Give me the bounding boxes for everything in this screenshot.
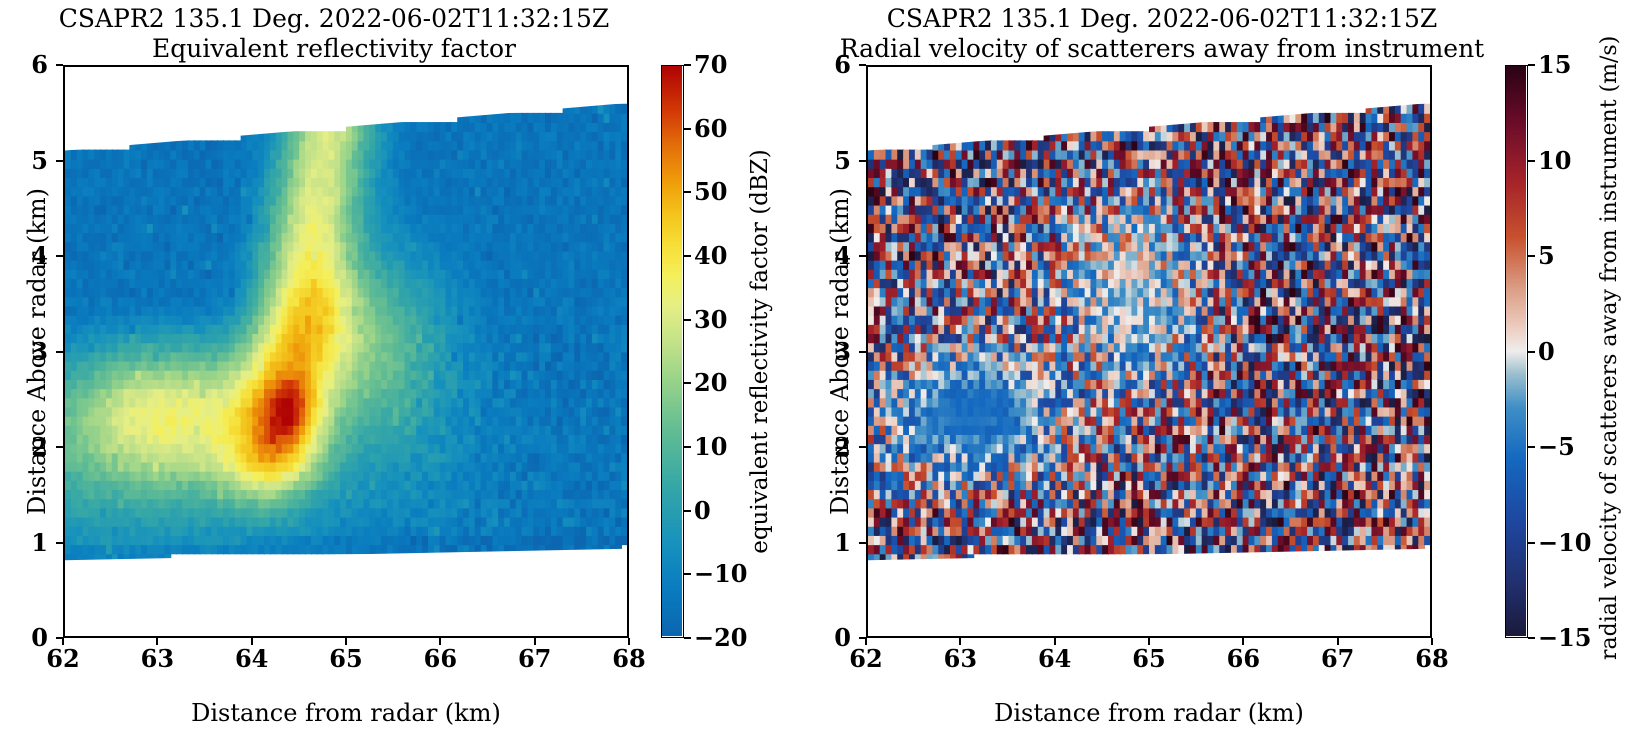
reflectivity-xtick-label: 62 [23,647,103,671]
velocity-colorbar-tick [1528,637,1535,639]
reflectivity-colorbar-tick [684,255,691,257]
reflectivity-ytick [56,351,63,353]
reflectivity-xtick-label: 66 [400,647,480,671]
reflectivity-colorbar-tick [684,637,691,639]
reflectivity-xtick-label: 67 [495,647,575,671]
reflectivity-title-line1: CSAPR2 135.1 Deg. 2022-06-02T11:32:15Z [0,4,668,34]
reflectivity-xtick-label: 63 [117,647,197,671]
velocity-xtick-label: 67 [1298,647,1378,671]
reflectivity-colorbar[interactable] [661,65,684,638]
velocity-xtick-label: 65 [1109,647,1189,671]
velocity-colorbar-tick-label: 15 [1538,53,1571,77]
reflectivity-ytick [56,160,63,162]
reflectivity-heatmap-canvas [65,67,627,636]
velocity-colorbar-tick-label: −10 [1538,531,1592,555]
reflectivity-colorbar-tick-label: 0 [694,499,711,523]
reflectivity-colorbar-tick [684,191,691,193]
reflectivity-title-line2: Equivalent reflectivity factor [0,34,668,64]
velocity-colorbar-gradient [1506,66,1526,636]
reflectivity-colorbar-tick [684,510,691,512]
velocity-colorbar-label: radial velocity of scatterers away from … [1597,40,1622,660]
reflectivity-ytick [56,255,63,257]
reflectivity-colorbar-tick-label: −20 [694,626,748,650]
reflectivity-colorbar-tick [684,64,691,66]
velocity-colorbar[interactable] [1505,65,1528,638]
reflectivity-ytick [56,542,63,544]
velocity-colorbar-tick-label: −15 [1538,626,1592,650]
velocity-heatmap-canvas [868,67,1430,636]
radar-figure: CSAPR2 135.1 Deg. 2022-06-02T11:32:15Z E… [0,0,1634,752]
reflectivity-colorbar-tick-label: 70 [694,53,727,77]
velocity-xtick-label: 68 [1392,647,1472,671]
reflectivity-xtick-label: 65 [306,647,386,671]
reflectivity-colorbar-tick-label: 50 [694,180,727,204]
reflectivity-colorbar-tick [684,319,691,321]
velocity-colorbar-tick [1528,446,1535,448]
velocity-title-line1: CSAPR2 135.1 Deg. 2022-06-02T11:32:15Z [828,4,1496,34]
velocity-colorbar-tick-label: −5 [1538,435,1575,459]
reflectivity-colorbar-tick-label: 60 [694,117,727,141]
reflectivity-ytick [56,446,63,448]
velocity-colorbar-tick [1528,160,1535,162]
velocity-colorbar-tick-label: 0 [1538,340,1555,364]
reflectivity-colorbar-tick-label: −10 [694,562,748,586]
velocity-ytick [859,351,866,353]
velocity-plot-area[interactable] [866,65,1432,638]
velocity-title-line2: Radial velocity of scatterers away from … [828,34,1496,64]
reflectivity-ytick [56,64,63,66]
reflectivity-title: CSAPR2 135.1 Deg. 2022-06-02T11:32:15Z E… [0,4,668,64]
velocity-ytick [859,160,866,162]
velocity-ytick [859,542,866,544]
velocity-ytick [859,255,866,257]
velocity-xtick-label: 64 [1015,647,1095,671]
reflectivity-colorbar-tick-label: 30 [694,308,727,332]
reflectivity-colorbar-tick-label: 20 [694,371,727,395]
reflectivity-xlabel: Distance from radar (km) [63,700,629,726]
velocity-ytick [859,64,866,66]
reflectivity-plot-area[interactable] [63,65,629,638]
reflectivity-colorbar-tick [684,382,691,384]
velocity-colorbar-tick-label: 5 [1538,244,1555,268]
velocity-xlabel: Distance from radar (km) [866,700,1432,726]
velocity-xtick-label: 63 [920,647,1000,671]
velocity-ytick [859,446,866,448]
reflectivity-colorbar-gradient [662,66,682,636]
reflectivity-colorbar-tick-label: 40 [694,244,727,268]
reflectivity-xtick-label: 64 [212,647,292,671]
reflectivity-colorbar-label: equivalent reflectivity factor (dBZ) [748,65,773,638]
reflectivity-colorbar-tick [684,573,691,575]
velocity-xtick-label: 66 [1203,647,1283,671]
reflectivity-ylabel: Distance Above radar (km) [24,65,50,638]
reflectivity-xtick-label: 68 [589,647,669,671]
velocity-colorbar-tick [1528,64,1535,66]
velocity-title: CSAPR2 135.1 Deg. 2022-06-02T11:32:15Z R… [828,4,1496,64]
velocity-colorbar-tick [1528,255,1535,257]
velocity-ylabel: Distance Above radar (km) [827,65,853,638]
reflectivity-colorbar-tick [684,446,691,448]
velocity-xtick-label: 62 [826,647,906,671]
velocity-colorbar-tick [1528,542,1535,544]
velocity-colorbar-tick [1528,351,1535,353]
reflectivity-colorbar-tick-label: 10 [694,435,727,459]
velocity-colorbar-tick-label: 10 [1538,149,1571,173]
reflectivity-colorbar-tick [684,128,691,130]
